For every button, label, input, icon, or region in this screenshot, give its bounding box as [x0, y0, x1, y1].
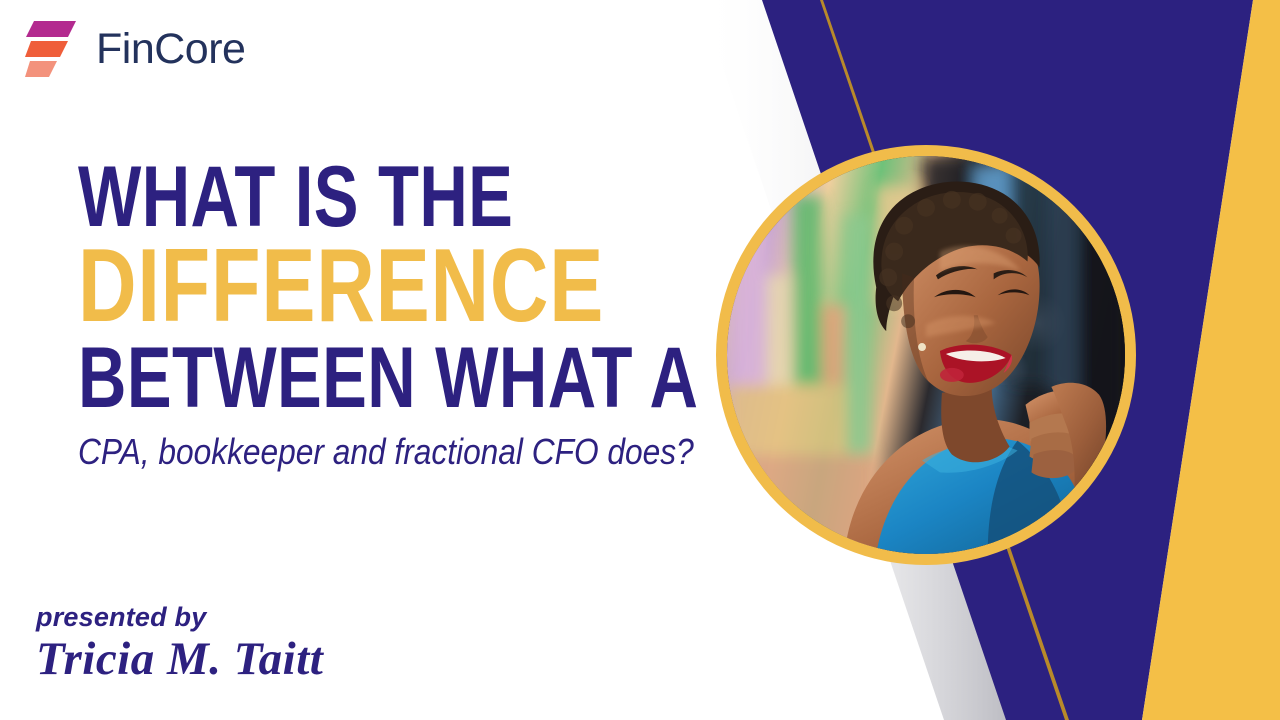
- brand-logo-lockup[interactable]: FinCore: [24, 18, 245, 80]
- presented-by-label: presented by: [36, 603, 323, 633]
- presenter-name: Tricia M. Taitt: [36, 635, 323, 684]
- presenter-block: presented by Tricia M. Taitt: [36, 603, 323, 684]
- fincore-f-bars-icon: [24, 18, 82, 80]
- brand-wordmark: FinCore: [96, 28, 245, 71]
- webinar-title-slide: FinCore WHAT IS THE DIFFERENCE BETWEEN W…: [0, 0, 1280, 720]
- headline-line-3: BETWEEN WHAT A: [78, 339, 593, 418]
- presenter-portrait-clip: [727, 156, 1125, 554]
- presenter-photo: [727, 156, 1125, 554]
- headline-line-2-emphasis: DIFFERENCE: [78, 239, 593, 335]
- headline-subline: CPA, bookkeeper and fractional CFO does?: [78, 432, 659, 472]
- headline-line-1: WHAT IS THE: [78, 158, 593, 237]
- presenter-portrait-ring: [716, 145, 1136, 565]
- headline-block: WHAT IS THE DIFFERENCE BETWEEN WHAT A CP…: [78, 158, 738, 471]
